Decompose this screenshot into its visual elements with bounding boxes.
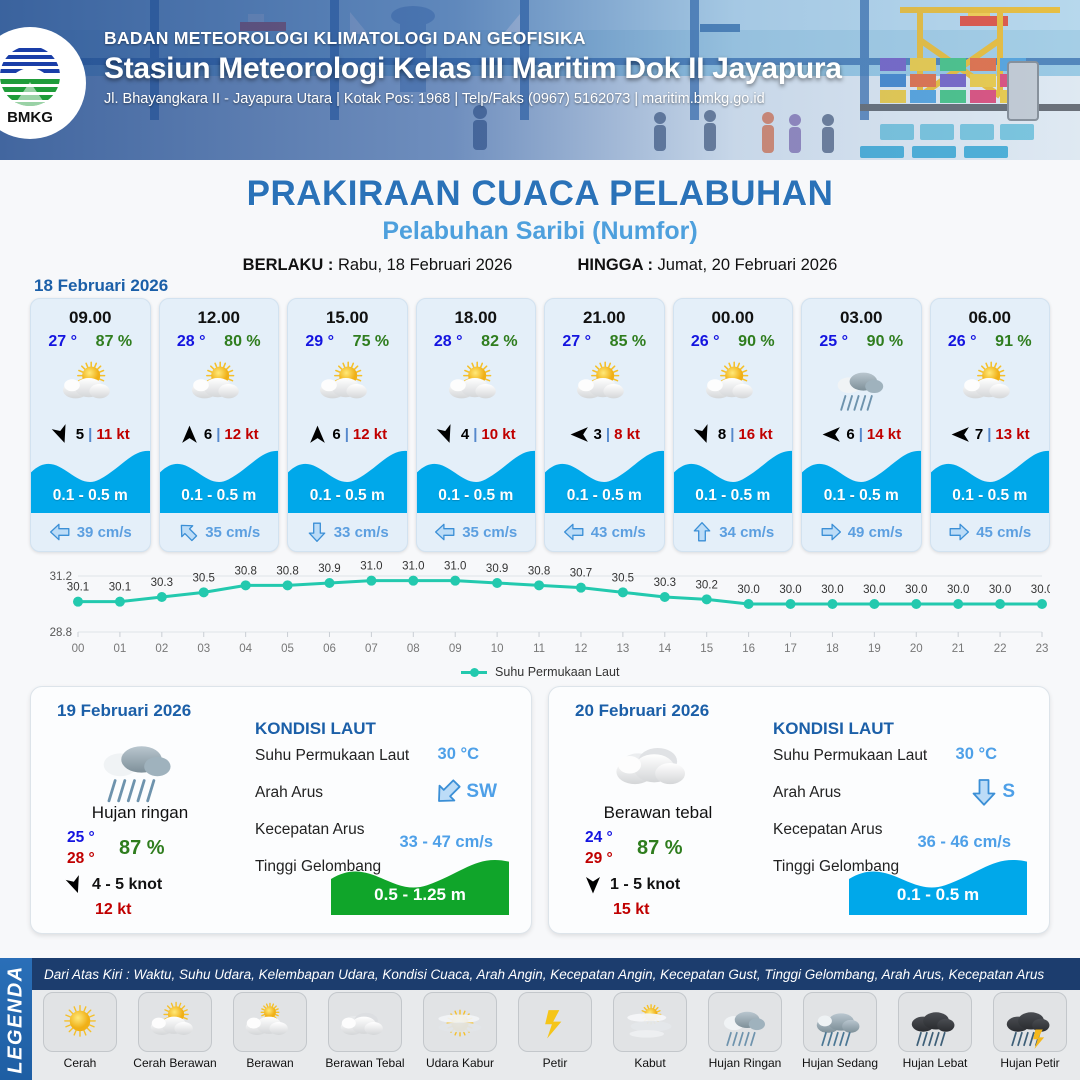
legend-item-label: Berawan Tebal xyxy=(321,1056,409,1070)
validity-range: BERLAKU : Rabu, 18 Februari 2026 HINGGA … xyxy=(0,256,1080,275)
weather-icon-cerah-berawan xyxy=(960,354,1020,414)
panel-label-sst: Suhu Permukaan Laut xyxy=(255,747,409,765)
card-gust: 16 kt xyxy=(738,426,772,443)
legend-side-title: LEGENDA xyxy=(0,958,32,1080)
berlaku-label: BERLAKU : xyxy=(243,256,334,274)
weather-icon-cerah-berawan xyxy=(148,995,202,1049)
card-humidity: 75 % xyxy=(353,333,389,351)
panel-current-speed-value: 36 - 46 cm/s xyxy=(917,833,1011,852)
forecast-card[interactable]: 18.00 28 ° 82 % 4 | 10 kt xyxy=(416,298,537,552)
card-temperature: 26 ° xyxy=(948,333,977,351)
legend-icon-box xyxy=(803,992,877,1052)
legend-item: Hujan Petir xyxy=(986,992,1074,1070)
card-gust: 11 kt xyxy=(96,426,129,443)
svg-text:30.5: 30.5 xyxy=(193,572,215,584)
legend-icon-box xyxy=(518,992,592,1052)
legend-icon-box xyxy=(43,992,117,1052)
card-current: 35 cm/s xyxy=(417,521,536,543)
panel-current-dir-value: S xyxy=(1002,781,1015,803)
svg-text:BMKG: BMKG xyxy=(7,109,53,126)
wind-direction-arrow xyxy=(821,424,842,445)
card-current-speed: 35 cm/s xyxy=(462,524,517,541)
svg-text:19: 19 xyxy=(868,643,881,655)
legend-item: Berawan Tebal xyxy=(321,992,409,1070)
legend-item-label: Udara Kabur xyxy=(416,1056,504,1070)
panel-gust: 12 kt xyxy=(95,901,131,919)
panel-temp-max: 28 ° xyxy=(67,850,95,868)
card-temperature: 27 ° xyxy=(48,333,77,351)
card-time: 09.00 xyxy=(31,308,150,328)
legend-icon-box xyxy=(993,992,1067,1052)
svg-text:07: 07 xyxy=(365,643,378,655)
svg-text:30.3: 30.3 xyxy=(654,577,676,589)
legend-icon-box xyxy=(138,992,212,1052)
weather-icon-hujan-ringan xyxy=(94,719,182,807)
legend-item: Petir xyxy=(511,992,599,1070)
weather-icon-hujan-lebat xyxy=(908,995,962,1049)
legend-item-label: Hujan Petir xyxy=(986,1056,1074,1070)
card-wave-height: 0.1 - 0.5 m xyxy=(288,487,407,505)
card-separator: | xyxy=(345,426,349,443)
sst-chart: 31.228.830.10030.10130.30230.50330.80430… xyxy=(30,560,1050,675)
wind-direction-arrow xyxy=(950,424,971,445)
card-separator: | xyxy=(859,426,863,443)
svg-text:31.0: 31.0 xyxy=(444,561,466,573)
card-wave-height: 0.1 - 0.5 m xyxy=(674,487,793,505)
weather-icon-cerah-berawan xyxy=(60,354,120,414)
daily-forecast-panel[interactable]: 20 Februari 2026 Berawan tebal 24 ° 29 °… xyxy=(548,686,1050,934)
legend-item: Cerah xyxy=(36,992,124,1070)
legend-item: Kabut xyxy=(606,992,694,1070)
card-wind-speed: 3 xyxy=(594,426,602,443)
berlaku-value: Rabu, 18 Februari 2026 xyxy=(338,256,512,274)
card-temperature: 26 ° xyxy=(691,333,720,351)
panel-wave-graphic xyxy=(331,853,509,915)
card-humidity: 87 % xyxy=(96,333,132,351)
svg-text:30.0: 30.0 xyxy=(821,584,843,596)
svg-text:30.1: 30.1 xyxy=(67,582,89,594)
legend-icon-box xyxy=(423,992,497,1052)
weather-icon-cerah-berawan xyxy=(446,354,506,414)
current-direction-arrow xyxy=(306,521,328,543)
card-temperature: 27 ° xyxy=(562,333,591,351)
svg-text:08: 08 xyxy=(407,643,420,655)
panel-label-current-dir: Arah Arus xyxy=(255,784,323,802)
panel-condition: Hujan ringan xyxy=(31,803,249,823)
forecast-card[interactable]: 15.00 29 ° 75 % 6 | 12 kt xyxy=(287,298,408,552)
panel-label-current-dir: Arah Arus xyxy=(773,784,841,802)
panel-wave-graphic xyxy=(849,853,1027,915)
weather-icon-hujan-sedang xyxy=(813,995,867,1049)
card-time: 06.00 xyxy=(931,308,1050,328)
panel-weather-icon xyxy=(601,727,711,799)
current-direction-arrow xyxy=(434,521,456,543)
card-wind-speed: 7 xyxy=(975,426,983,443)
svg-text:30.0: 30.0 xyxy=(779,584,801,596)
svg-text:30.8: 30.8 xyxy=(528,565,550,577)
panel-sst-value: 30 °C xyxy=(438,745,479,764)
legend-item-label: Berawan xyxy=(226,1056,314,1070)
forecast-card[interactable]: 06.00 26 ° 91 % 7 | 13 kt xyxy=(930,298,1051,552)
card-humidity: 85 % xyxy=(610,333,646,351)
weather-icon-udara-kabur xyxy=(433,995,487,1049)
weather-icon-berawan-tebal xyxy=(338,995,392,1049)
current-direction-arrow xyxy=(820,521,842,543)
card-time: 21.00 xyxy=(545,308,664,328)
card-separator: | xyxy=(987,426,991,443)
card-wind-speed: 5 xyxy=(76,426,84,443)
card-weather-icon xyxy=(545,353,664,415)
legend-item: Berawan xyxy=(226,992,314,1070)
panel-label-current-speed: Kecepatan Arus xyxy=(773,821,882,839)
legend-item: Cerah Berawan xyxy=(131,992,219,1070)
card-current: 33 cm/s xyxy=(288,521,407,543)
legend-note: Dari Atas Kiri : Waktu, Suhu Udara, Kele… xyxy=(32,958,1080,990)
card-weather-icon xyxy=(31,353,150,415)
card-wind-speed: 6 xyxy=(332,426,340,443)
panel-gust: 15 kt xyxy=(613,901,649,919)
svg-text:02: 02 xyxy=(155,643,168,655)
forecast-card[interactable]: 12.00 28 ° 80 % 6 | 12 kt xyxy=(159,298,280,552)
legend-item-label: Kabut xyxy=(606,1056,694,1070)
svg-text:16: 16 xyxy=(742,643,755,655)
current-direction-arrow xyxy=(427,771,469,813)
panel-wind-speed: 1 - 5 knot xyxy=(610,876,680,894)
card-weather-icon xyxy=(802,353,921,415)
weather-icon-cerah-berawan xyxy=(574,354,634,414)
card-wind-speed: 6 xyxy=(846,426,854,443)
card-separator: | xyxy=(606,426,610,443)
chart-legend: Suhu Permukaan Laut xyxy=(0,665,1080,679)
station-address: Jl. Bhayangkara II - Jayapura Utara | Ko… xyxy=(104,91,842,107)
panel-wave-height: 0.5 - 1.25 m xyxy=(331,885,509,905)
card-current-speed: 49 cm/s xyxy=(848,524,903,541)
legend-item-label: Cerah xyxy=(36,1056,124,1070)
card-current-speed: 33 cm/s xyxy=(334,524,389,541)
card-current-speed: 34 cm/s xyxy=(719,524,774,541)
panel-temp-max: 29 ° xyxy=(585,850,613,868)
svg-text:12: 12 xyxy=(575,643,588,655)
panel-temps: 25 ° 28 ° xyxy=(67,829,95,868)
panel-current-dir: SW xyxy=(433,777,497,807)
svg-text:23: 23 xyxy=(1036,643,1049,655)
svg-text:30.0: 30.0 xyxy=(947,584,969,596)
card-current-speed: 35 cm/s xyxy=(205,524,260,541)
panel-weather-icon xyxy=(83,727,193,799)
card-gust: 12 kt xyxy=(224,426,258,443)
hingga-label: HINGGA : xyxy=(577,256,652,274)
card-current: 43 cm/s xyxy=(545,521,664,543)
card-gust: 8 kt xyxy=(614,426,640,443)
weather-icon-hujan-petir xyxy=(1003,995,1057,1049)
card-current-speed: 39 cm/s xyxy=(77,524,132,541)
card-current: 49 cm/s xyxy=(802,521,921,543)
svg-text:01: 01 xyxy=(114,643,127,655)
legend-icon-box xyxy=(708,992,782,1052)
card-gust: 13 kt xyxy=(995,426,1029,443)
card-time: 15.00 xyxy=(288,308,407,328)
svg-text:13: 13 xyxy=(616,643,629,655)
card-weather-icon xyxy=(160,353,279,415)
panel-sst-value: 30 °C xyxy=(956,745,997,764)
wind-direction-arrow xyxy=(62,872,88,898)
svg-text:09: 09 xyxy=(449,643,462,655)
card-wave-height: 0.1 - 0.5 m xyxy=(160,487,279,505)
legend-side-title-text: LEGENDA xyxy=(5,965,28,1073)
card-humidity: 80 % xyxy=(224,333,260,351)
weather-icon-berawan-tebal xyxy=(612,719,700,807)
svg-text:05: 05 xyxy=(281,643,294,655)
card-gust: 12 kt xyxy=(353,426,387,443)
panel-wind-speed: 4 - 5 knot xyxy=(92,876,162,894)
svg-text:17: 17 xyxy=(784,643,797,655)
card-humidity: 91 % xyxy=(995,333,1031,351)
svg-text:03: 03 xyxy=(197,643,210,655)
panel-humidity: 87 % xyxy=(637,837,683,860)
card-separator: | xyxy=(88,426,92,443)
svg-text:22: 22 xyxy=(994,643,1007,655)
svg-text:30.9: 30.9 xyxy=(486,563,508,575)
card-weather-icon xyxy=(417,353,536,415)
panel-label-sst: Suhu Permukaan Laut xyxy=(773,747,927,765)
card-temperature: 28 ° xyxy=(434,333,463,351)
card-humidity: 90 % xyxy=(867,333,903,351)
card-current: 39 cm/s xyxy=(31,521,150,543)
hingga-value: Jumat, 20 Februari 2026 xyxy=(658,256,838,274)
page-title: PRAKIRAAN CUACA PELABUHAN xyxy=(0,174,1080,214)
svg-text:30.0: 30.0 xyxy=(989,584,1011,596)
weather-icon-kabut xyxy=(623,995,677,1049)
card-weather-icon xyxy=(674,353,793,415)
panel-humidity: 87 % xyxy=(119,837,165,860)
panel-current-dir: S xyxy=(969,777,1015,807)
card-separator: | xyxy=(473,426,477,443)
svg-text:21: 21 xyxy=(952,643,965,655)
svg-text:11: 11 xyxy=(533,643,545,655)
wind-direction-arrow xyxy=(583,875,603,895)
card-weather-icon xyxy=(931,353,1050,415)
card-humidity: 82 % xyxy=(481,333,517,351)
chart-legend-marker xyxy=(461,671,487,674)
svg-text:31.0: 31.0 xyxy=(360,561,382,573)
card-separator: | xyxy=(730,426,734,443)
svg-text:30.1: 30.1 xyxy=(109,582,131,594)
legend-item: Hujan Lebat xyxy=(891,992,979,1070)
legend-item-label: Cerah Berawan xyxy=(131,1056,219,1070)
card-wave-height: 0.1 - 0.5 m xyxy=(545,487,664,505)
svg-text:30.0: 30.0 xyxy=(737,584,759,596)
svg-text:30.8: 30.8 xyxy=(234,565,256,577)
svg-text:30.7: 30.7 xyxy=(570,568,592,580)
panel-wave-shape xyxy=(331,853,509,915)
weather-icon-cerah-berawan xyxy=(703,354,763,414)
legend-bar: LEGENDA Dari Atas Kiri : Waktu, Suhu Uda… xyxy=(0,958,1080,1080)
current-direction-arrow xyxy=(691,521,713,543)
svg-text:30.3: 30.3 xyxy=(151,577,173,589)
panel-sea-title: KONDISI LAUT xyxy=(255,719,376,739)
wind-direction-arrow xyxy=(307,424,328,445)
panel-wind: 4 - 5 knot xyxy=(65,875,162,895)
title-block: PRAKIRAAN CUACA PELABUHAN Pelabuhan Sari… xyxy=(0,160,1080,275)
panel-temp-min: 25 ° xyxy=(67,829,95,847)
svg-text:00: 00 xyxy=(72,643,85,655)
svg-text:30.0: 30.0 xyxy=(1031,584,1050,596)
svg-text:14: 14 xyxy=(658,643,671,655)
card-gust: 14 kt xyxy=(867,426,901,443)
panel-temp-min: 24 ° xyxy=(585,829,613,847)
card-weather-icon xyxy=(288,353,407,415)
panel-temps: 24 ° 29 ° xyxy=(585,829,613,868)
svg-text:31.0: 31.0 xyxy=(402,561,424,573)
legend-icon-box xyxy=(898,992,972,1052)
forecast-card[interactable]: 09.00 27 ° 87 % 5 | 11 kt xyxy=(30,298,151,552)
weather-icon-berawan xyxy=(243,995,297,1049)
svg-text:30.2: 30.2 xyxy=(696,579,718,591)
station-name: Stasiun Meteorologi Kelas III Maritim Do… xyxy=(104,52,842,86)
panel-current-dir-value: SW xyxy=(466,781,497,803)
legend-icon-box xyxy=(613,992,687,1052)
page-header: BMKG BADAN METEOROLOGI KLIMATOLOGI DAN G… xyxy=(0,0,1080,160)
wind-direction-arrow xyxy=(569,424,590,445)
legend-item-label: Hujan Lebat xyxy=(891,1056,979,1070)
forecast-card[interactable]: 00.00 26 ° 90 % 8 | 16 kt xyxy=(673,298,794,552)
forecast-card[interactable]: 03.00 25 ° 90 % 6 | 14 kt xyxy=(801,298,922,552)
panel-wind: 1 - 5 knot xyxy=(583,875,680,895)
panel-wave-shape xyxy=(849,853,1027,915)
card-current-speed: 45 cm/s xyxy=(976,524,1031,541)
svg-text:06: 06 xyxy=(323,643,336,655)
panel-sea-title: KONDISI LAUT xyxy=(773,719,894,739)
bmkg-logo-mark: BMKG xyxy=(0,40,68,126)
svg-text:15: 15 xyxy=(700,643,713,655)
card-wind-speed: 4 xyxy=(461,426,469,443)
card-temperature: 25 ° xyxy=(819,333,848,351)
header-text-block: BADAN METEOROLOGI KLIMATOLOGI DAN GEOFIS… xyxy=(104,28,842,107)
panel-wave-height: 0.1 - 0.5 m xyxy=(849,885,1027,905)
svg-text:10: 10 xyxy=(491,643,504,655)
panel-condition: Berawan tebal xyxy=(549,803,767,823)
card-time: 00.00 xyxy=(674,308,793,328)
card-current: 45 cm/s xyxy=(931,521,1050,543)
weather-icon-cerah xyxy=(53,995,107,1049)
current-direction-arrow xyxy=(173,516,204,547)
card-wave-height: 0.1 - 0.5 m xyxy=(931,487,1050,505)
current-direction-arrow xyxy=(969,777,999,807)
current-direction-arrow xyxy=(49,521,71,543)
panel-label-current-speed: Kecepatan Arus xyxy=(255,821,364,839)
org-name: BADAN METEOROLOGI KLIMATOLOGI DAN GEOFIS… xyxy=(104,28,842,49)
current-direction-arrow xyxy=(563,521,585,543)
legend-item: Hujan Ringan xyxy=(701,992,789,1070)
svg-text:30.0: 30.0 xyxy=(863,584,885,596)
port-name: Pelabuhan Saribi (Numfor) xyxy=(0,217,1080,246)
svg-text:18: 18 xyxy=(826,643,839,655)
hourly-forecast-row: 09.00 27 ° 87 % 5 | 11 kt xyxy=(30,298,1050,552)
legend-item-label: Petir xyxy=(511,1056,599,1070)
svg-text:30.0: 30.0 xyxy=(905,584,927,596)
card-wave-height: 0.1 - 0.5 m xyxy=(31,487,150,505)
forecast-day-label: 18 Februari 2026 xyxy=(34,276,168,296)
sst-chart-svg: 31.228.830.10030.10130.30230.50330.80430… xyxy=(30,560,1050,675)
svg-text:20: 20 xyxy=(910,643,923,655)
card-current: 34 cm/s xyxy=(674,521,793,543)
weather-icon-petir xyxy=(528,995,582,1049)
panel-current-speed-value: 33 - 47 cm/s xyxy=(399,833,493,852)
panel-date: 19 Februari 2026 xyxy=(57,701,191,721)
card-current-speed: 43 cm/s xyxy=(591,524,646,541)
weather-icon-hujan-ringan xyxy=(718,995,772,1049)
legend-icon-box xyxy=(328,992,402,1052)
daily-forecast-panels: 19 Februari 2026 Hujan ringan 25 ° 28 ° … xyxy=(30,686,1050,934)
svg-text:30.5: 30.5 xyxy=(612,572,634,584)
weather-icon-cerah-berawan xyxy=(317,354,377,414)
weather-icon-cerah-berawan xyxy=(189,354,249,414)
card-current: 35 cm/s xyxy=(160,521,279,543)
svg-text:28.8: 28.8 xyxy=(50,627,72,639)
legend-item-label: Hujan Ringan xyxy=(701,1056,789,1070)
svg-text:30.8: 30.8 xyxy=(276,565,298,577)
card-wave-height: 0.1 - 0.5 m xyxy=(802,487,921,505)
card-wind-speed: 8 xyxy=(718,426,726,443)
card-wave-height: 0.1 - 0.5 m xyxy=(417,487,536,505)
card-temperature: 28 ° xyxy=(177,333,206,351)
card-gust: 10 kt xyxy=(481,426,515,443)
svg-text:30.9: 30.9 xyxy=(318,563,340,575)
card-separator: | xyxy=(216,426,220,443)
forecast-card[interactable]: 21.00 27 ° 85 % 3 | 8 kt xyxy=(544,298,665,552)
chart-legend-label: Suhu Permukaan Laut xyxy=(495,665,619,679)
card-time: 18.00 xyxy=(417,308,536,328)
weather-icon-hujan-ringan xyxy=(831,354,891,414)
legend-item: Udara Kabur xyxy=(416,992,504,1070)
legend-item: Hujan Sedang xyxy=(796,992,884,1070)
card-time: 12.00 xyxy=(160,308,279,328)
panel-date: 20 Februari 2026 xyxy=(575,701,709,721)
daily-forecast-panel[interactable]: 19 Februari 2026 Hujan ringan 25 ° 28 ° … xyxy=(30,686,532,934)
card-temperature: 29 ° xyxy=(305,333,334,351)
legend-item-label: Hujan Sedang xyxy=(796,1056,884,1070)
card-humidity: 90 % xyxy=(738,333,774,351)
legend-items: Cerah Cerah Berawan xyxy=(36,992,1074,1070)
legend-icon-box xyxy=(233,992,307,1052)
wind-direction-arrow xyxy=(179,424,200,445)
svg-text:04: 04 xyxy=(239,643,252,655)
card-time: 03.00 xyxy=(802,308,921,328)
card-wind-speed: 6 xyxy=(204,426,212,443)
current-direction-arrow xyxy=(948,521,970,543)
